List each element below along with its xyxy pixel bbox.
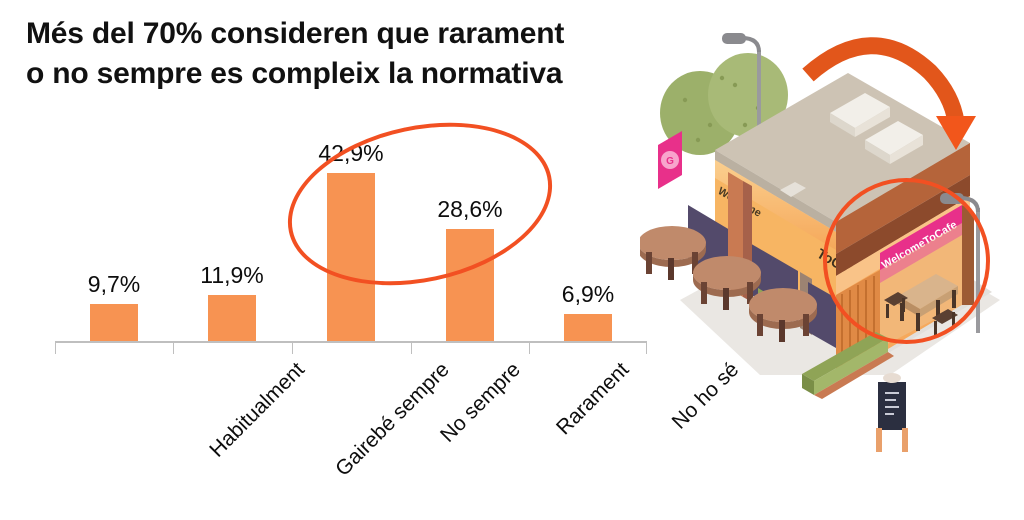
axis-tick bbox=[411, 341, 412, 354]
bar-habitualment[interactable] bbox=[90, 304, 138, 342]
bar-gairebe-sempre[interactable] bbox=[208, 295, 256, 342]
bar-value-label-0: 9,7% bbox=[88, 271, 140, 298]
page-title: Més del 70% consideren que rarament o no… bbox=[26, 14, 636, 94]
title-line-1: Més del 70% consideren que rarament bbox=[26, 14, 636, 54]
focus-circle-annotation bbox=[823, 178, 990, 344]
chart-axis-ticks bbox=[55, 341, 647, 354]
bar-slot-4: 6,9% bbox=[529, 118, 647, 342]
sign-board-icon bbox=[876, 373, 908, 452]
title-line-2: o no sempre es compleix la normativa bbox=[26, 54, 636, 94]
category-label-rarament: Rarament bbox=[552, 358, 634, 440]
slide-root: Més del 70% consideren que rarament o no… bbox=[0, 0, 1024, 520]
bar-no-ho-se[interactable] bbox=[564, 314, 612, 342]
bar-value-label-1: 11,9% bbox=[200, 262, 264, 289]
axis-tick bbox=[173, 341, 174, 354]
category-label-habitualment: Habitualment bbox=[205, 358, 309, 462]
axis-tick bbox=[529, 341, 530, 354]
bar-slot-0: 9,7% bbox=[55, 118, 173, 342]
category-label-gairebe-sempre: Gairebé sempre bbox=[331, 358, 454, 481]
axis-tick bbox=[292, 341, 293, 354]
svg-text:G: G bbox=[666, 156, 674, 167]
axis-tick bbox=[55, 341, 56, 354]
bar-slot-1: 11,9% bbox=[173, 118, 291, 342]
bar-value-label-4: 6,9% bbox=[562, 281, 614, 308]
chart-category-labels: Habitualment Gairebé sempre No sempre Ra… bbox=[55, 358, 647, 518]
